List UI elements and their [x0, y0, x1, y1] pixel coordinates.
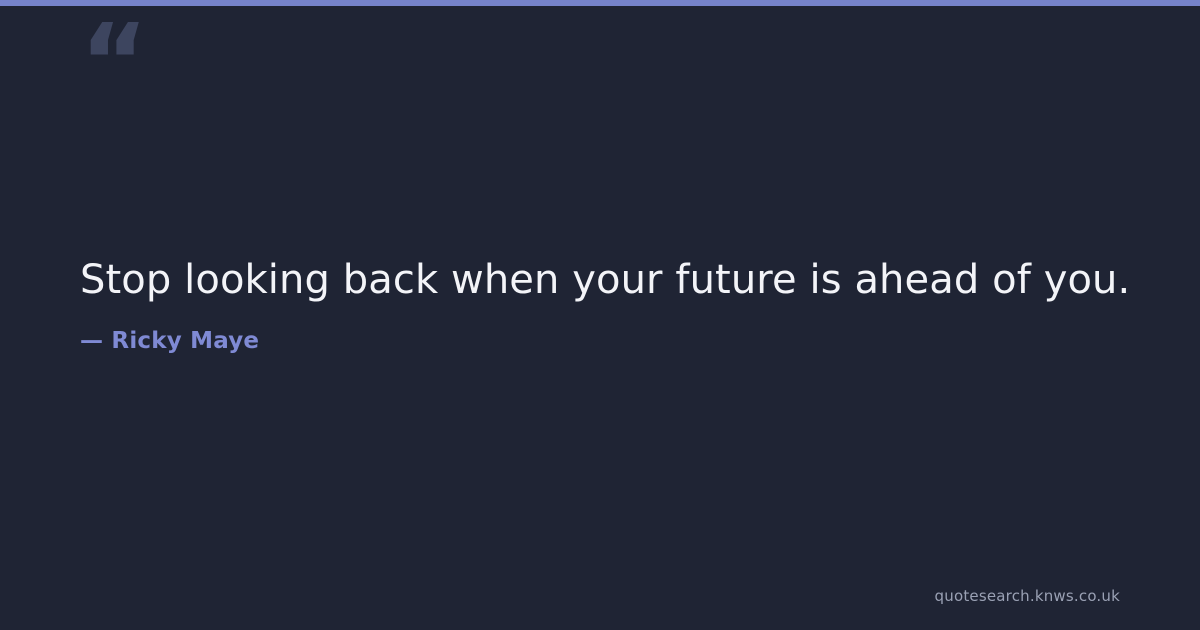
- opening-quotation-mark-icon: “: [80, 10, 146, 114]
- quote-text: Stop looking back when your future is ah…: [80, 255, 1120, 306]
- quote-card: “ Stop looking back when your future is …: [0, 0, 1200, 630]
- site-watermark: quotesearch.knws.co.uk: [935, 589, 1120, 604]
- quote-block: Stop looking back when your future is ah…: [80, 255, 1120, 356]
- quote-author: — Ricky Maye: [80, 328, 1120, 356]
- top-accent-bar: [0, 0, 1200, 6]
